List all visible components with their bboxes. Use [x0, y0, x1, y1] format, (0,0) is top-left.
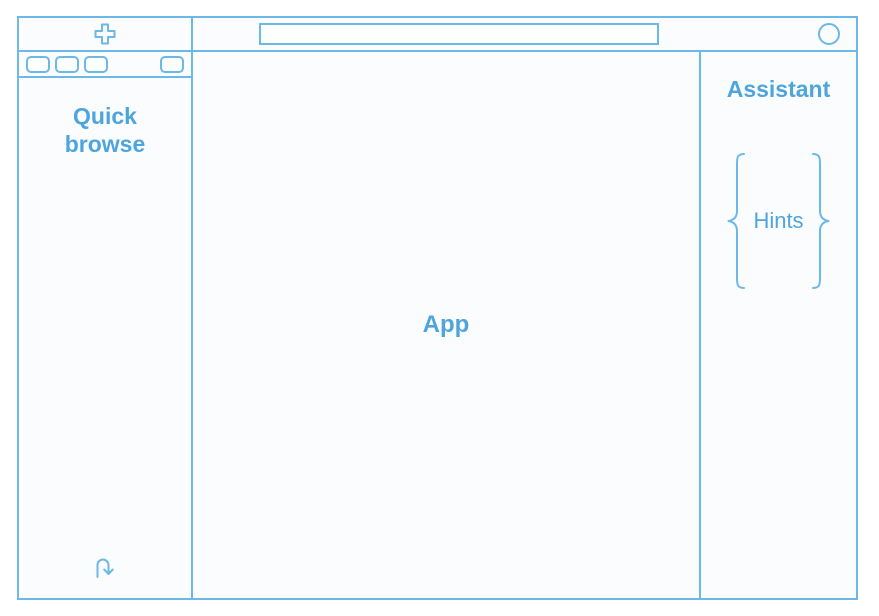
top-bar	[19, 18, 856, 52]
sidebar-heading: Quick browse	[19, 78, 191, 158]
omnibox-zone	[193, 18, 739, 50]
plus-icon	[93, 22, 117, 46]
sidebar-tab-strip	[19, 52, 191, 78]
add-tab-button[interactable]	[19, 18, 193, 50]
profile-zone	[739, 18, 857, 50]
wireframe-window: Quick browse App Assistant Hints	[17, 16, 858, 600]
u-turn-arrow-icon[interactable]	[90, 552, 120, 582]
sidebar-panel: Quick browse	[19, 52, 193, 598]
app-stage: App	[193, 52, 701, 598]
tab-chip-trailing[interactable]	[160, 56, 184, 73]
hints-block: Hints	[701, 151, 856, 291]
open-brace-icon	[725, 151, 749, 291]
sidebar-footer	[19, 536, 191, 598]
assistant-panel: Assistant Hints	[701, 52, 856, 598]
avatar-circle-icon[interactable]	[818, 23, 840, 45]
body-row: Quick browse App Assistant Hints	[19, 52, 856, 598]
tab-chip-3[interactable]	[84, 56, 108, 73]
sidebar-content-area	[19, 158, 191, 536]
address-search-input[interactable]	[259, 23, 659, 45]
close-brace-icon	[808, 151, 832, 291]
assistant-heading: Assistant	[727, 52, 831, 103]
tab-chip-2[interactable]	[55, 56, 79, 73]
tab-chip-1[interactable]	[26, 56, 50, 73]
hints-label: Hints	[749, 208, 807, 234]
app-label: App	[423, 311, 470, 339]
